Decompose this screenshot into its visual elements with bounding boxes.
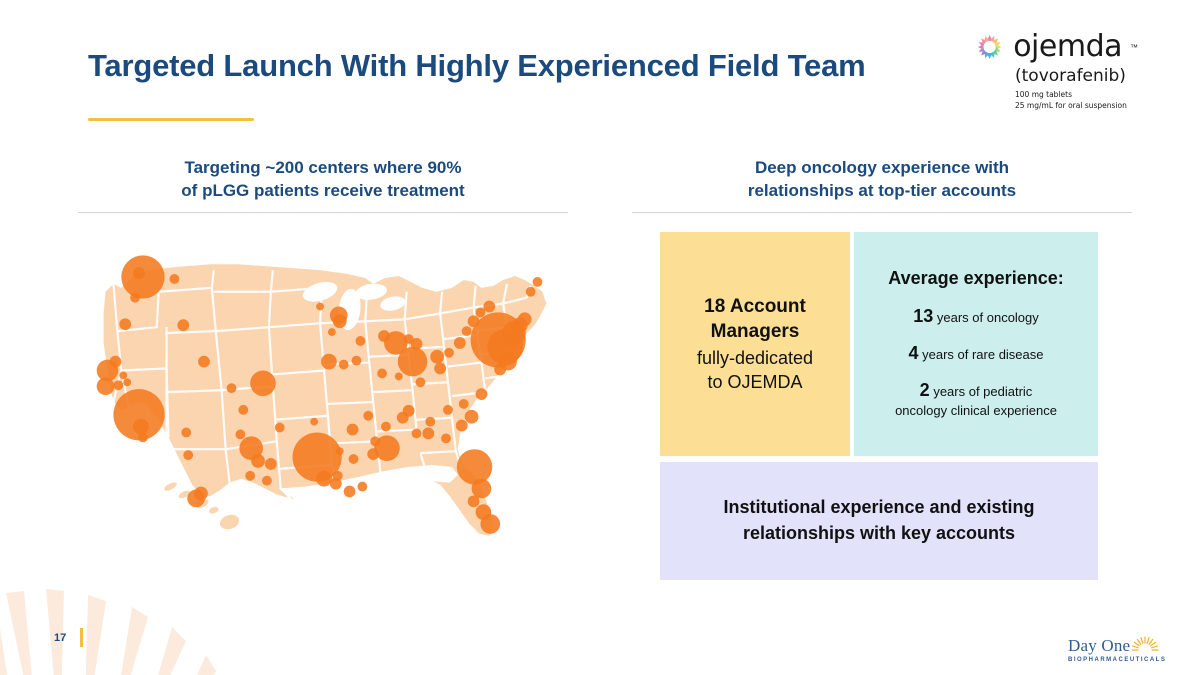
generic-name: (tovorafenib)	[1015, 67, 1138, 86]
map-bubble	[456, 420, 468, 432]
us-map-svg	[78, 240, 570, 560]
map-bubble	[238, 405, 248, 415]
map-bubble	[370, 436, 380, 446]
map-bubble	[472, 479, 492, 499]
map-bubble	[187, 490, 205, 508]
map-bubble	[430, 350, 444, 364]
map-bubble	[483, 301, 495, 313]
map-bubble	[347, 424, 359, 436]
right-heading-line-2: relationships at top-tier accounts	[632, 179, 1132, 202]
map-bubble	[422, 428, 434, 440]
map-bubble	[518, 312, 532, 326]
stat-label-rare-disease: years of rare disease	[922, 347, 1043, 362]
map-bubble	[123, 378, 131, 386]
map-bubble	[357, 482, 367, 492]
day-one-wordmark: Day One	[1068, 637, 1130, 654]
institutional-experience-card: Institutional experience and existing re…	[660, 462, 1098, 580]
account-managers-subtext: fully-dedicated to OJEMDA	[697, 346, 813, 394]
map-bubble	[395, 372, 403, 380]
map-bubble	[328, 328, 336, 336]
map-bubble	[412, 429, 422, 439]
map-bubble	[416, 377, 426, 387]
map-bubble	[262, 476, 272, 486]
page-number: 17	[54, 632, 66, 644]
map-bubble	[425, 417, 435, 427]
map-bubble	[494, 364, 506, 376]
map-bubble	[476, 388, 488, 400]
map-bubble	[443, 405, 453, 415]
stat-label-pediatric-line-2: oncology clinical experience	[895, 403, 1057, 420]
map-bubble	[434, 363, 446, 375]
map-bubble	[133, 267, 145, 279]
map-bubble	[468, 495, 480, 507]
experience-stat-oncology: 13 years of oncology	[913, 305, 1039, 329]
map-bubble	[245, 471, 255, 481]
map-bubble	[344, 486, 356, 498]
map-bubble	[133, 419, 149, 435]
experience-stat-rare-disease: 4 years of rare disease	[908, 342, 1043, 366]
map-bubble	[183, 450, 193, 460]
map-bubble	[441, 433, 451, 443]
map-bubble	[316, 303, 324, 311]
map-bubble	[321, 354, 337, 370]
experience-stat-pediatric: 2 years of pediatric oncology clinical e…	[895, 379, 1057, 420]
stat-number-oncology: 13	[913, 306, 933, 326]
left-column-heading: Targeting ~200 centers where 90% of pLGG…	[78, 156, 568, 203]
map-bubble	[526, 287, 536, 297]
map-bubble	[533, 277, 543, 287]
left-heading-line-2: of pLGG patients receive treatment	[78, 179, 568, 202]
map-bubble	[462, 326, 472, 336]
account-managers-sub-line-1: fully-dedicated	[697, 346, 813, 370]
map-bubble	[349, 454, 359, 464]
map-bubble	[363, 411, 373, 421]
map-bubble	[97, 377, 115, 395]
map-bubble	[227, 383, 237, 393]
right-column-heading: Deep oncology experience with relationsh…	[632, 156, 1132, 203]
map-bubble	[398, 347, 428, 377]
map-bubble	[333, 314, 347, 328]
right-heading-line-1: Deep oncology experience with	[632, 156, 1132, 179]
map-bubble	[198, 356, 210, 368]
map-bubble	[316, 471, 332, 487]
institutional-line-1: Institutional experience and existing	[723, 495, 1034, 521]
map-bubble	[457, 449, 492, 484]
stat-label-pediatric: years of pediatric	[933, 384, 1032, 399]
day-one-sunburst-icon	[1132, 628, 1162, 654]
slide: Targeted Launch With Highly Experienced …	[0, 0, 1200, 675]
day-one-subtitle: BIOPHARMACEUTICALS	[1068, 657, 1188, 663]
map-bubble	[465, 410, 479, 424]
map-bubble	[293, 432, 342, 481]
map-bubble	[275, 423, 285, 433]
right-column-divider	[632, 212, 1132, 213]
account-managers-line-2: Managers	[704, 319, 806, 344]
map-bubble	[119, 371, 127, 379]
average-experience-card: Average experience: 13 years of oncology…	[854, 232, 1098, 456]
map-bubble	[170, 274, 180, 284]
map-bubble	[476, 308, 486, 318]
ojemda-ring-icon	[973, 28, 1006, 66]
map-bubble	[381, 422, 391, 432]
average-experience-title: Average experience:	[888, 268, 1063, 289]
map-bubble	[177, 319, 189, 331]
map-bubble	[251, 454, 265, 468]
left-heading-line-1: Targeting ~200 centers where 90%	[78, 156, 568, 179]
map-bubble	[235, 430, 245, 440]
day-one-company-logo: Day One BIOPHARMACEUTICALS	[1068, 628, 1188, 663]
map-bubble	[367, 448, 379, 460]
map-bubble	[352, 356, 362, 366]
left-column-divider	[78, 212, 568, 213]
account-managers-sub-line-2: to OJEMDA	[697, 370, 813, 394]
us-bubble-map	[78, 240, 570, 560]
map-bubble	[377, 369, 387, 379]
map-bubble	[113, 380, 123, 390]
map-bubble	[181, 428, 191, 438]
map-bubble	[310, 418, 318, 426]
map-bubble	[265, 458, 277, 470]
page-number-accent-bar	[80, 628, 83, 647]
map-bubble	[138, 432, 148, 442]
dosage-info: 100 mg tablets 25 mg/mL for oral suspens…	[1015, 90, 1138, 112]
account-managers-headline: 18 Account Managers	[704, 294, 806, 345]
trademark-symbol: ™	[1130, 43, 1138, 52]
institutional-experience-text: Institutional experience and existing re…	[723, 495, 1034, 546]
map-bubble	[355, 336, 365, 346]
page-title: Targeted Launch With Highly Experienced …	[88, 48, 866, 84]
map-bubble	[403, 405, 415, 417]
dosage-line-1: 100 mg tablets	[1015, 90, 1138, 101]
institutional-line-2: relationships with key accounts	[723, 521, 1034, 547]
map-bubble	[330, 478, 342, 490]
map-bubble	[459, 399, 469, 409]
ojemda-product-logo: ojemda ™ (tovorafenib) 100 mg tablets 25…	[973, 28, 1138, 111]
map-bubble	[130, 293, 140, 303]
stat-number-pediatric: 2	[920, 380, 930, 400]
map-bubble	[119, 318, 131, 330]
map-bubble	[444, 348, 454, 358]
ojemda-wordmark: ojemda	[1013, 32, 1122, 62]
title-underline-accent	[88, 118, 254, 121]
map-bubble	[454, 337, 466, 349]
map-bubble	[250, 370, 276, 396]
stat-label-oncology: years of oncology	[937, 310, 1039, 325]
account-managers-card: 18 Account Managers fully-dedicated to O…	[660, 232, 850, 456]
map-bubble	[480, 514, 500, 534]
stat-number-rare-disease: 4	[908, 343, 918, 363]
account-managers-line-1: 18 Account	[704, 294, 806, 319]
map-bubble	[339, 360, 349, 370]
dosage-line-2: 25 mg/mL for oral suspension	[1015, 101, 1138, 112]
